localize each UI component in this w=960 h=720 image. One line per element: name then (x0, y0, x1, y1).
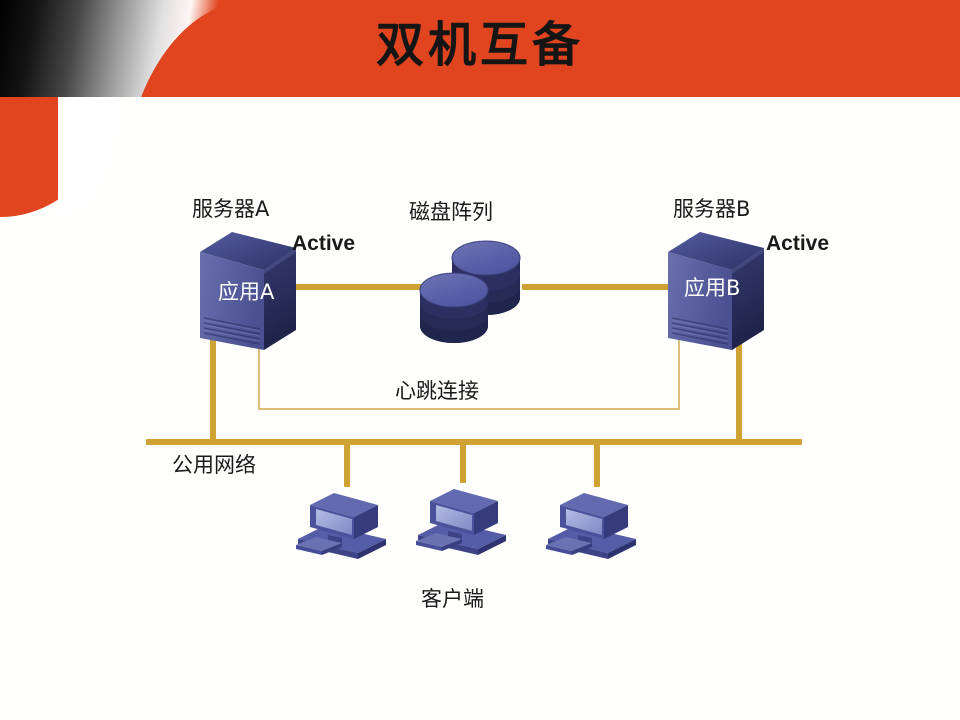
server-a-label: 服务器A (192, 193, 269, 223)
server-b-app-label: 应用B (684, 272, 740, 302)
client-workstation-3[interactable] (544, 483, 640, 567)
disk-array-icon[interactable] (416, 240, 528, 346)
server-b-state-badge: Active (766, 232, 829, 256)
heartbeat-label: 心跳连接 (395, 375, 479, 405)
link-server-a-to-disk (288, 284, 434, 290)
clients-label: 客户端 (421, 583, 484, 613)
page-title: 双机互备 (0, 14, 960, 76)
link-network-to-client-1 (344, 439, 350, 487)
public-network-backbone (146, 439, 802, 445)
link-network-to-client-3 (594, 439, 600, 487)
client-workstation-2[interactable] (414, 479, 510, 563)
link-disk-to-server-b (522, 284, 674, 290)
heartbeat-bottom-segment (258, 408, 680, 410)
server-a-app-label: 应用A (218, 276, 274, 306)
server-a-state-badge: Active (292, 232, 355, 256)
server-b-label: 服务器B (673, 193, 750, 223)
public-network-label: 公用网络 (172, 449, 256, 479)
link-network-to-client-2 (460, 439, 466, 483)
client-workstation-1[interactable] (294, 483, 390, 567)
slide-canvas: 双机互备 (0, 0, 960, 720)
disk-array-label: 磁盘阵列 (409, 196, 493, 226)
left-wedge-inner-cut (58, 97, 118, 217)
